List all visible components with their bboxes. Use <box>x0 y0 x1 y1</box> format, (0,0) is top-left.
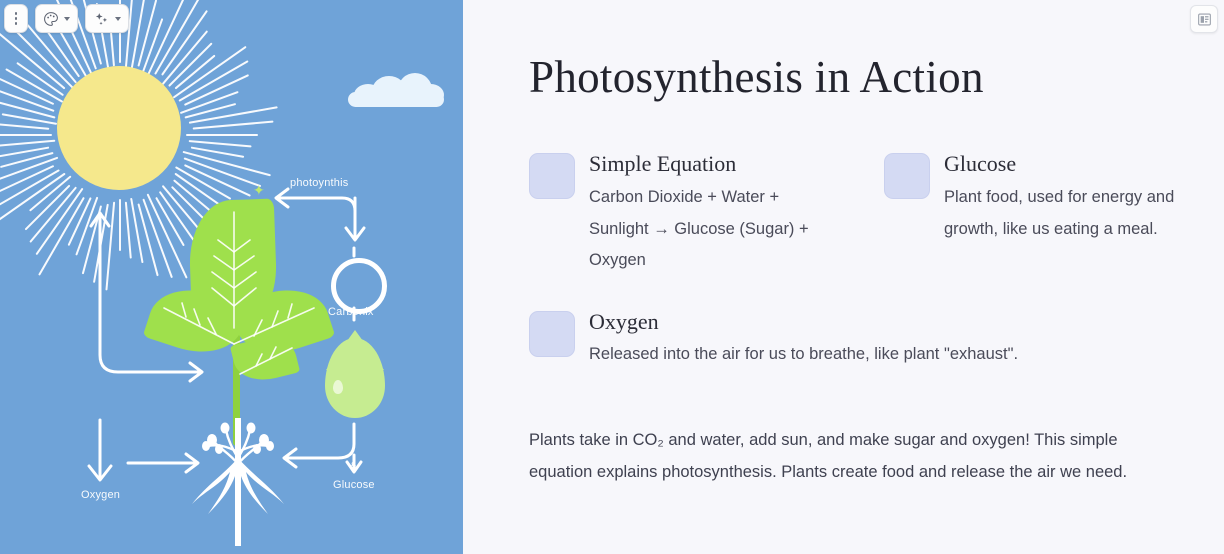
leaf-veins <box>150 196 340 446</box>
sparkles-button[interactable] <box>85 4 129 33</box>
document-panel-icon <box>1197 12 1212 27</box>
card-swatch <box>529 311 575 357</box>
label-glucose: Glucose <box>333 479 375 491</box>
cards-grid: Simple Equation Carbon Dioxide + Water +… <box>529 151 1219 367</box>
palette-icon <box>43 11 59 27</box>
card-body-text: Released into the air for us to breathe,… <box>589 341 1219 367</box>
card-heading: Oxygen <box>589 309 1219 334</box>
kebab-menu-icon[interactable] <box>4 4 28 33</box>
slide-canvas: ✦ <box>0 0 1224 554</box>
card-swatch <box>884 153 930 199</box>
plant-roots <box>178 418 298 548</box>
sparkles-icon <box>93 11 110 27</box>
document-panel-button[interactable] <box>1190 5 1218 33</box>
card-swatch <box>529 153 575 199</box>
card-body-text: Plant food, used for energy and growth, … <box>944 182 1197 245</box>
label-photosynthesis: photoynthis <box>290 177 348 189</box>
label-oxygen: Oxygen <box>81 489 120 501</box>
summary-paragraph: Plants take in CO₂ and water, add sun, a… <box>529 425 1175 488</box>
card-simple-equation: Simple Equation Carbon Dioxide + Water +… <box>529 151 842 276</box>
chevron-down-icon <box>64 17 70 21</box>
label-glucose-mark: & <box>350 461 357 472</box>
floating-toolbar[interactable] <box>4 4 129 33</box>
chevron-down-icon <box>115 17 121 21</box>
label-carbon: Carbonix <box>328 306 374 318</box>
card-body-text: Carbon Dioxide + Water + Sunlight → Gluc… <box>589 182 842 276</box>
card-glucose: Glucose Plant food, used for energy and … <box>884 151 1197 276</box>
card-oxygen: Oxygen Released into the air for us to b… <box>529 309 1219 367</box>
cards-row-1: Simple Equation Carbon Dioxide + Water +… <box>529 151 1219 276</box>
content-panel: Photosynthesis in Action Simple Equation… <box>463 0 1224 554</box>
palette-button[interactable] <box>35 4 78 33</box>
plant-illustration <box>150 196 340 446</box>
page-title: Photosynthesis in Action <box>529 51 984 103</box>
card-heading: Simple Equation <box>589 151 842 176</box>
illustration-panel: ✦ <box>0 0 463 554</box>
card-heading: Glucose <box>944 151 1197 176</box>
cards-row-2: Oxygen Released into the air for us to b… <box>529 309 1219 367</box>
